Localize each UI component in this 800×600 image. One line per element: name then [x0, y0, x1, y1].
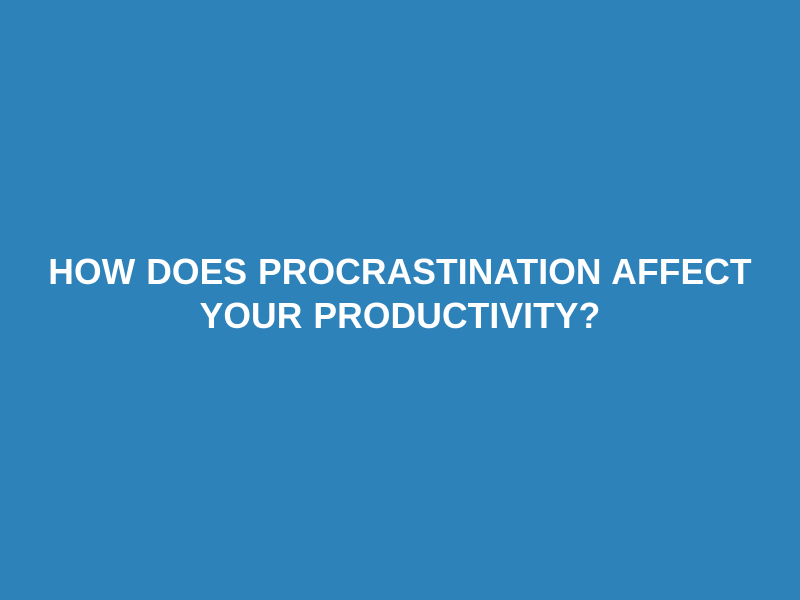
page-title-line-2: YOUR PRODUCTIVITY? [45, 294, 754, 338]
hero-title-block: HOW DOES PROCRASTINATION AFFECT YOUR PRO… [0, 250, 800, 338]
page-title-line-1: HOW DOES PROCRASTINATION AFFECT [45, 250, 754, 294]
hero-card: HOW DOES PROCRASTINATION AFFECT YOUR PRO… [0, 0, 800, 600]
page-title: HOW DOES PROCRASTINATION AFFECT YOUR PRO… [45, 250, 754, 338]
